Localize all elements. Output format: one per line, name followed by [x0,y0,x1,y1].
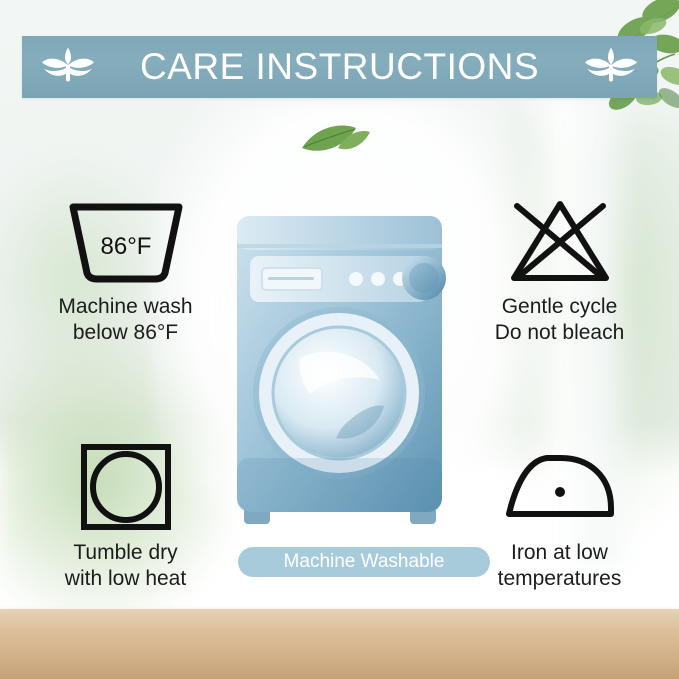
washing-machine-illustration [232,208,447,533]
badge-text: Machine Washable [284,551,445,573]
wash-tub-icon: 86°F [18,196,233,286]
care-instructions-graphic: CARE INSTRUCTIONS 86°F Machine [0,0,679,679]
care-label-gentle-cycle: Gentle cycle Do not bleach [452,294,667,345]
crossed-triangle-bleach-icon [452,196,667,286]
care-label-tumble-dry: Tumble dry with low heat [18,540,233,591]
machine-washable-badge: Machine Washable [238,547,490,577]
care-label-line1: Tumble dry [18,540,233,566]
care-icon-tumble-dry: Tumble dry with low heat [18,442,233,591]
table-surface [0,609,679,679]
care-label-line2: below 86°F [18,320,233,346]
page-title: CARE INSTRUCTIONS [140,46,539,88]
iron-icon [452,442,667,532]
care-icon-machine-wash: 86°F Machine wash below 86°F [18,196,233,345]
care-icon-gentle-cycle: Gentle cycle Do not bleach [452,196,667,345]
wash-temperature-text: 86°F [100,233,151,260]
care-label-machine-wash: Machine wash below 86°F [18,294,233,345]
floating-leaf-small [337,128,371,157]
fleur-de-lis-ornament-left [40,45,96,90]
header-banner: CARE INSTRUCTIONS [22,36,657,98]
care-label-line1: Machine wash [18,294,233,320]
tumble-dry-icon [18,442,233,532]
care-label-line1: Gentle cycle [452,294,667,320]
fleur-de-lis-ornament-right [583,45,639,90]
care-label-line2: with low heat [18,566,233,592]
care-label-line2: Do not bleach [452,320,667,346]
